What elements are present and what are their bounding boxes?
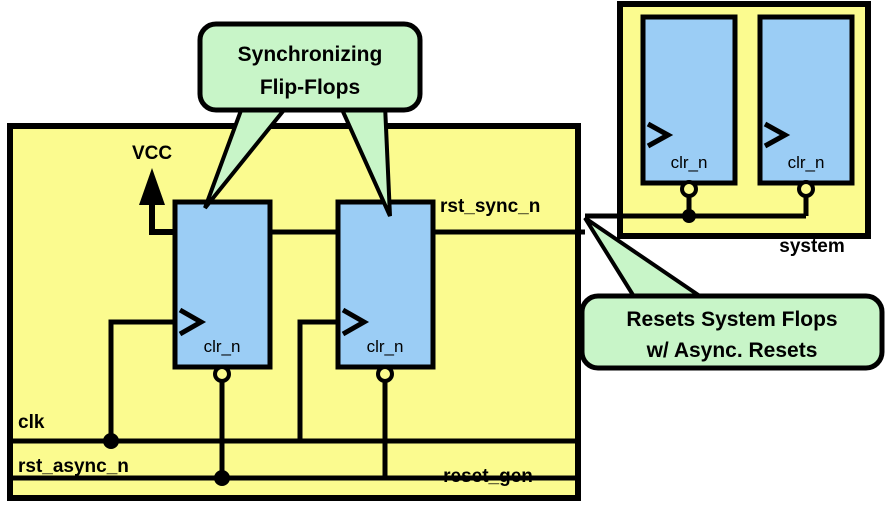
vcc-label: VCC — [132, 143, 172, 164]
system-module-label: system — [779, 236, 845, 257]
module-reset-gen: VCC clr_n clr_n — [10, 126, 585, 498]
sync-flop-2-clr-label: clr_n — [367, 337, 404, 356]
inversion-bubble-icon — [378, 367, 392, 381]
inversion-bubble-icon — [799, 182, 813, 196]
sync-flop-1-clr-label: clr_n — [204, 337, 241, 356]
reset-gen-module-label: reset_gen — [443, 466, 533, 487]
callout-1-line-2: Flip-Flops — [260, 76, 360, 99]
system-flop-1-clr-label: clr_n — [671, 153, 708, 172]
inversion-bubble-icon — [215, 367, 229, 381]
module-system: clr_n clr_n system — [585, 4, 868, 257]
callout-1-line-1: Synchronizing — [238, 43, 383, 66]
clk-label: clk — [18, 412, 45, 433]
rst-sync-n-label: rst_sync_n — [440, 196, 540, 217]
junction-dot-icon — [682, 209, 696, 223]
rst-async-n-label: rst_async_n — [18, 456, 129, 477]
junction-dot-icon — [214, 470, 230, 486]
inversion-bubble-icon — [682, 182, 696, 196]
circuit-diagram: clr_n clr_n system VCC — [0, 0, 888, 508]
system-flop-2-clr-label: clr_n — [788, 153, 825, 172]
callout-2-line-2: w/ Async. Resets — [646, 339, 818, 362]
callout-2-line-1: Resets System Flops — [626, 308, 837, 331]
diagram-canvas: clr_n clr_n system VCC — [0, 0, 888, 508]
